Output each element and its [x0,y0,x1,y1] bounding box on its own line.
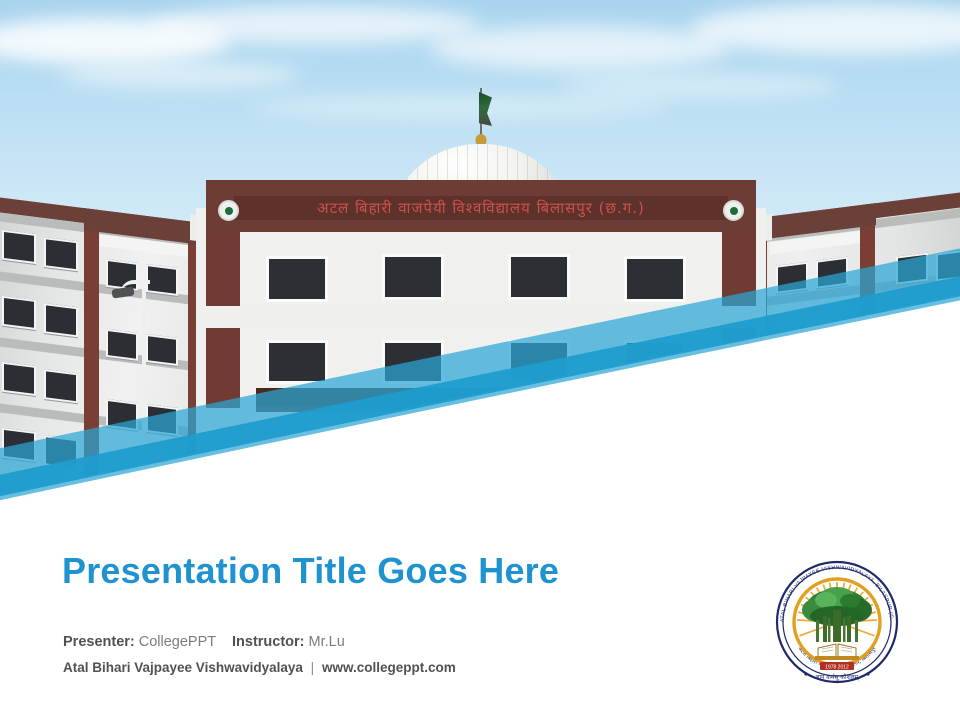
pilaster [860,203,875,500]
window [146,472,178,500]
website-link[interactable]: www.collegeppt.com [322,660,456,675]
window [936,250,960,282]
window [2,362,36,396]
window [776,262,808,294]
instructor-value: Mr.Lu [309,634,345,650]
instructor-label: Instructor: [232,634,305,650]
arch [589,468,707,500]
window [936,390,960,422]
window [2,428,36,462]
window [896,253,928,285]
window [816,397,848,429]
window [508,340,570,384]
cloud [150,6,480,44]
building-left-wing [0,196,218,500]
cloud [430,26,730,70]
window [816,257,848,289]
column-capital [409,438,437,449]
window [146,404,178,436]
university-seal-logo: ATAL BIHARI VAJPAYEE VISHWAVIDYALAYA, BI… [766,544,908,692]
column-pair [256,440,282,500]
window [44,303,78,337]
floor-band [206,306,756,328]
window [106,467,138,499]
streetlight-pole [142,286,146,476]
window [44,435,78,469]
window [624,340,686,384]
cloud [60,62,300,88]
window [2,230,36,264]
seal-year: 1978 2012 [825,664,849,670]
portico-cornice [256,388,726,408]
arch [433,468,551,500]
column-pair [700,440,726,500]
window [896,393,928,425]
seal-dot [804,672,807,675]
organization-line: Atal Bihari Vajpayee Vishwavidyalaya | w… [63,660,456,675]
building-center-block: अटल बिहारी वाजपेयी विश्वविद्यालय बिलासपु… [196,150,766,500]
cloud [560,74,840,98]
window [896,323,928,355]
column-pair [410,440,436,500]
seal-dot [866,672,869,675]
seal-motto: ज्ञानं कर्मसु कौशलम् [816,673,860,681]
presenter-label: Presenter: [63,634,135,650]
window [106,399,138,431]
column-capital [699,438,727,449]
window [776,402,808,434]
column-capital [255,438,283,449]
window [44,369,78,403]
window [776,332,808,364]
column-capital [565,438,593,449]
cloud [250,96,670,118]
signboard-emblem-right [723,200,744,221]
window [146,264,178,296]
title-row: Presentation Title Goes Here [62,551,702,591]
portico [254,412,728,500]
column-pair [566,440,592,500]
window [508,254,570,300]
presentation-slide: अटल बिहारी वाजपेयी विश्वविद्यालय बिलासपु… [0,0,960,720]
presenter-line: Presenter: CollegePPT Instructor: Mr.Lu [63,634,345,650]
window [936,320,960,352]
hero-photo: अटल बिहारी वाजपेयी विश्वविद्यालय बिलासपु… [0,0,960,500]
window [2,296,36,330]
window [266,340,328,384]
window [106,329,138,361]
separator: | [307,660,319,675]
window [44,237,78,271]
window [382,340,444,384]
arch [277,468,395,500]
signboard-emblem-left [218,200,239,221]
window [266,256,328,302]
window [146,334,178,366]
presenter-value: CollegePPT [139,634,216,650]
window [382,254,444,300]
page-title: Presentation Title Goes Here [62,551,702,591]
signboard-text: अटल बिहारी वाजपेयी विश्वविद्यालय बिलासपु… [317,201,645,216]
pilaster [84,208,99,500]
organization-name: Atal Bihari Vajpayee Vishwavidyalaya [63,660,303,675]
signboard: अटल बिहारी वाजपेयी विश्वविद्यालय बिलासपु… [234,196,728,220]
window [624,256,686,302]
window [816,327,848,359]
